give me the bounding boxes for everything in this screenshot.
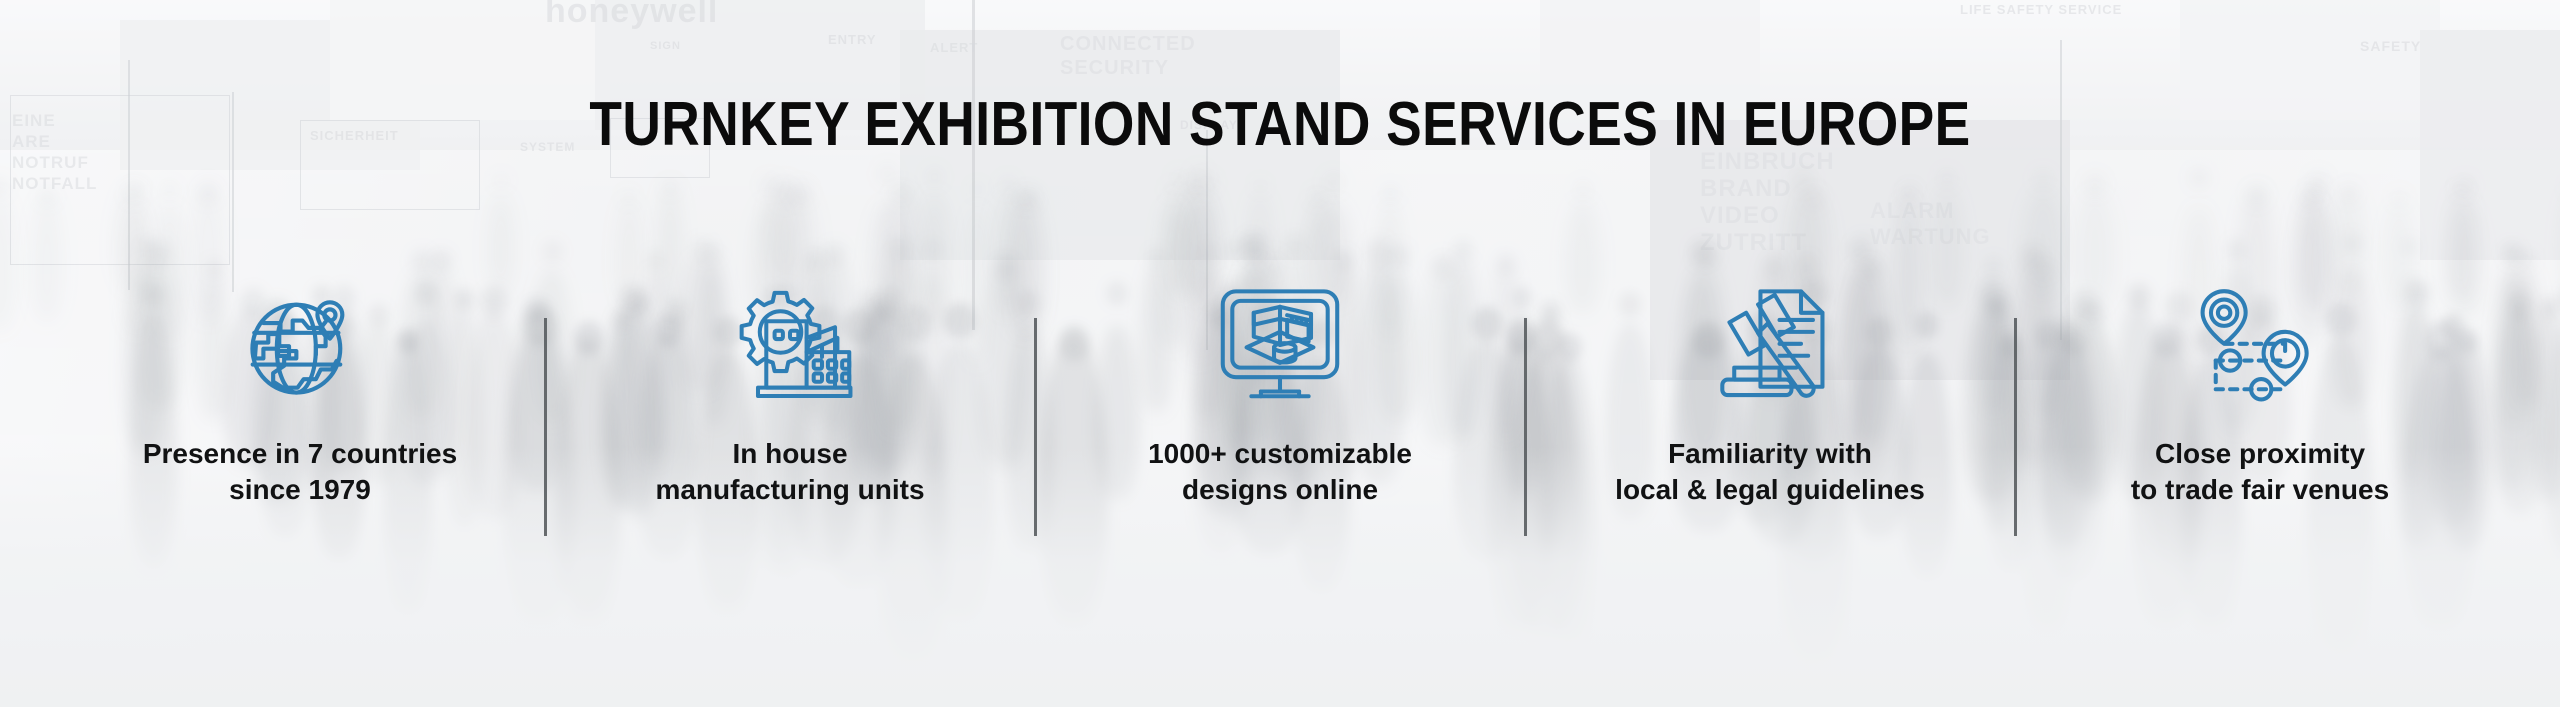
banner-content: TURNKEY EXHIBITION STAND SERVICES IN EUR… xyxy=(0,0,2560,707)
route-map-pins-icon xyxy=(2199,280,2321,410)
globe-pin-icon xyxy=(239,280,361,410)
feature-item-proximity: Close proximity to trade fair venues xyxy=(2015,280,2505,508)
feature-item-manufacturing: In house manufacturing units xyxy=(545,280,1035,508)
feature-item-presence: Presence in 7 countries since 1979 xyxy=(55,280,545,508)
page-title: TURNKEY EXHIBITION STAND SERVICES IN EUR… xyxy=(179,92,2381,158)
gear-factory-icon xyxy=(726,280,854,410)
hero-banner: honeywell EINE ARE NOTRUF NOTFALL SICHER… xyxy=(0,0,2560,707)
feature-caption: Presence in 7 countries since 1979 xyxy=(143,436,457,508)
feature-list: Presence in 7 countries since 1979 xyxy=(0,280,2560,580)
feature-item-legal: Familiarity with local & legal guideline… xyxy=(1525,280,2015,508)
feature-item-designs: 1000+ customizable designs online xyxy=(1035,280,1525,508)
gavel-document-icon xyxy=(1708,280,1832,410)
feature-caption: Familiarity with local & legal guideline… xyxy=(1615,436,1925,508)
monitor-3d-stand-icon xyxy=(1218,280,1342,410)
feature-caption: Close proximity to trade fair venues xyxy=(2131,436,2389,508)
feature-caption: 1000+ customizable designs online xyxy=(1148,436,1412,508)
feature-caption: In house manufacturing units xyxy=(655,436,924,508)
